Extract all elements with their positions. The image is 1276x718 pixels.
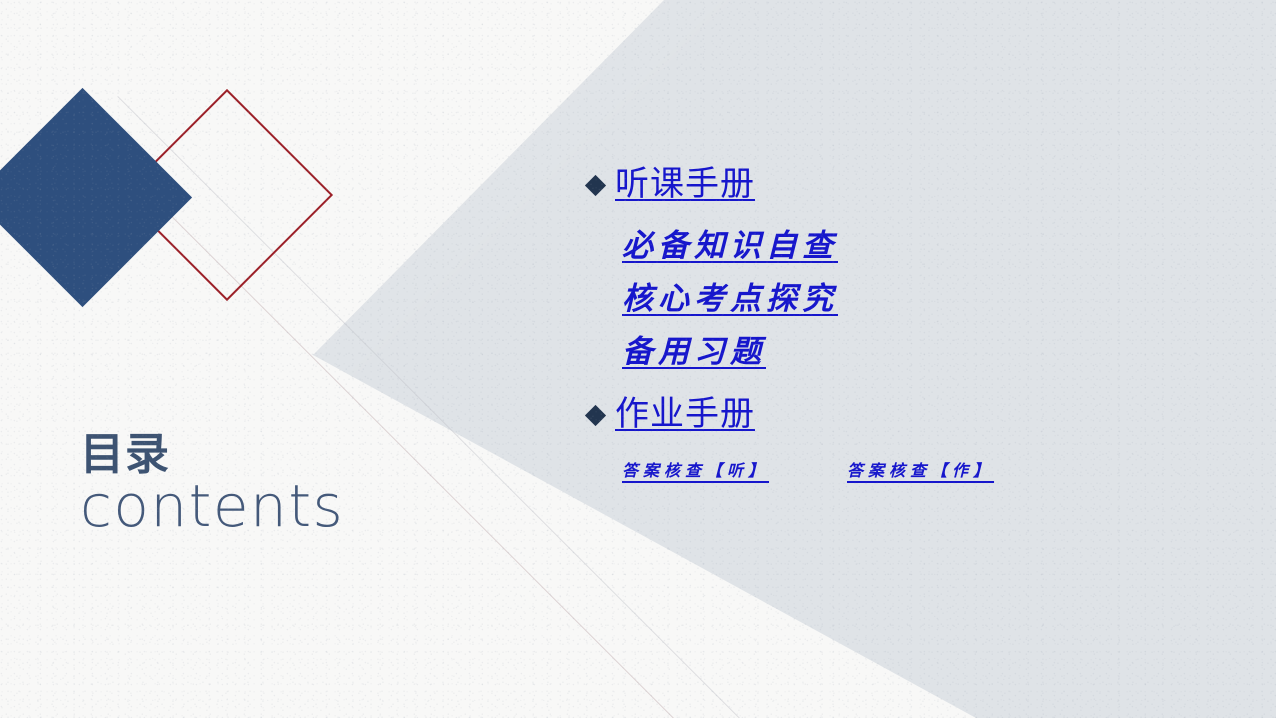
toc-heading-link-homework-manual[interactable]: 作业手册 <box>615 394 755 435</box>
page-title-en: contents <box>80 476 344 537</box>
page-title: 目录 contents <box>80 432 344 537</box>
navy-diamond-icon <box>0 88 192 307</box>
diamond-bullet-icon <box>585 405 606 426</box>
toc-link-answer-check-listening[interactable]: 答案核查【听】 <box>622 457 769 481</box>
diamond-bullet-icon <box>585 175 606 196</box>
toc-link-essential-knowledge-check[interactable]: 必备知识自查 <box>622 227 838 266</box>
toc-item-row: 核心考点探究 <box>622 280 1228 319</box>
toc-item-row-pair: 答案核查【听】 答案核查【作】 <box>622 457 1228 481</box>
page-title-cn: 目录 <box>80 432 344 478</box>
toc-heading-1-row[interactable]: 听课手册 <box>588 164 1228 205</box>
toc-group-2: 作业手册 答案核查【听】 答案核查【作】 <box>588 394 1228 481</box>
toc-item-row: 必备知识自查 <box>622 227 1228 266</box>
toc-group-1: 听课手册 必备知识自查 核心考点探究 备用习题 <box>588 164 1228 372</box>
toc-heading-2-row[interactable]: 作业手册 <box>588 394 1228 435</box>
slide-root: 目录 contents 听课手册 必备知识自查 核心考点探究 备用习题 <box>0 0 1276 718</box>
toc-link-answer-check-homework[interactable]: 答案核查【作】 <box>847 457 994 481</box>
toc-link-spare-exercises[interactable]: 备用习题 <box>622 333 766 372</box>
toc-heading-link-listening-manual[interactable]: 听课手册 <box>615 164 755 205</box>
table-of-contents: 听课手册 必备知识自查 核心考点探究 备用习题 作业手册 答案 <box>588 164 1228 481</box>
toc-item-row: 备用习题 <box>622 333 1228 372</box>
toc-link-core-exam-points[interactable]: 核心考点探究 <box>622 280 838 319</box>
